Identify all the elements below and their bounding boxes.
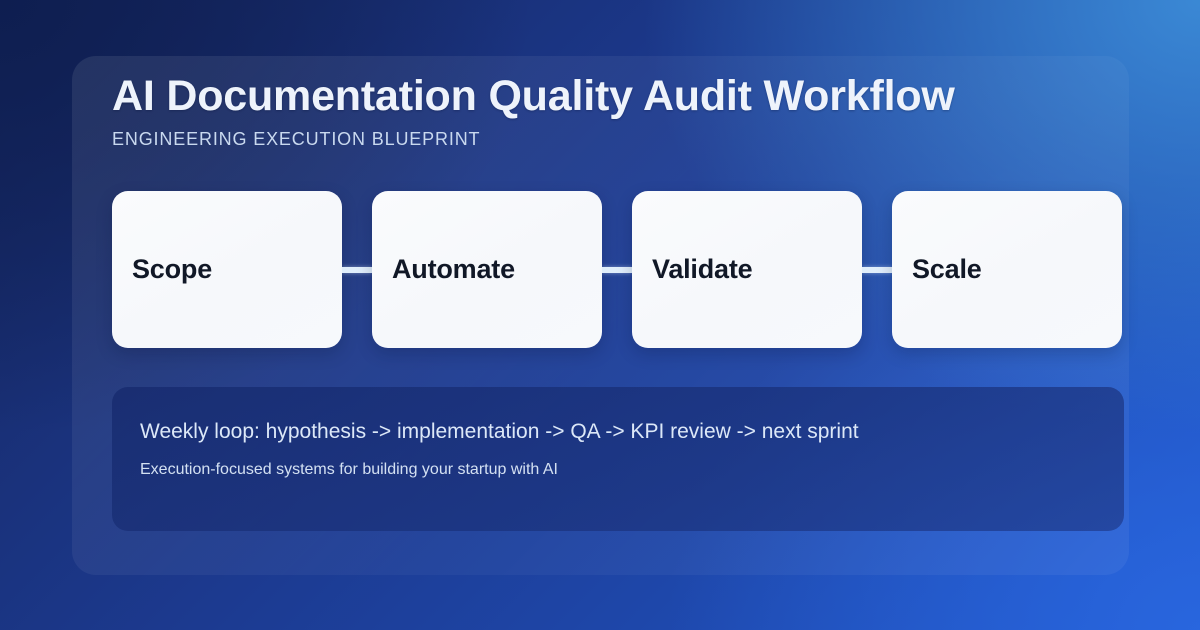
footer-callout: Weekly loop: hypothesis -> implementatio… bbox=[112, 387, 1124, 531]
workflow-step-label-3: Validate bbox=[652, 255, 752, 285]
step-connector-2-3 bbox=[602, 267, 632, 273]
workflow-step-card-3[interactable]: Validate bbox=[632, 191, 862, 348]
workflow-step-label-2: Automate bbox=[392, 255, 515, 285]
workflow-step-card-2[interactable]: Automate bbox=[372, 191, 602, 348]
footer-loop-text: Weekly loop: hypothesis -> implementatio… bbox=[140, 419, 1096, 445]
slide-canvas: AI Documentation Quality Audit Workflow … bbox=[0, 0, 1200, 630]
footer-tagline: Execution-focused systems for building y… bbox=[140, 460, 1096, 481]
workflow-step-label-1: Scope bbox=[132, 255, 212, 285]
content-panel: AI Documentation Quality Audit Workflow … bbox=[72, 56, 1129, 575]
panel-header: AI Documentation Quality Audit Workflow … bbox=[112, 72, 1089, 151]
page-title: AI Documentation Quality Audit Workflow bbox=[112, 72, 1089, 120]
workflow-step-card-1[interactable]: Scope bbox=[112, 191, 342, 348]
workflow-step-card-4[interactable]: Scale bbox=[892, 191, 1122, 348]
workflow-step-row: Scope Automate Validate Scale bbox=[112, 191, 1122, 348]
step-connector-3-4 bbox=[862, 267, 892, 273]
page-subtitle: ENGINEERING EXECUTION BLUEPRINT bbox=[112, 129, 1089, 151]
workflow-step-label-4: Scale bbox=[912, 255, 982, 285]
step-connector-1-2 bbox=[342, 267, 372, 273]
